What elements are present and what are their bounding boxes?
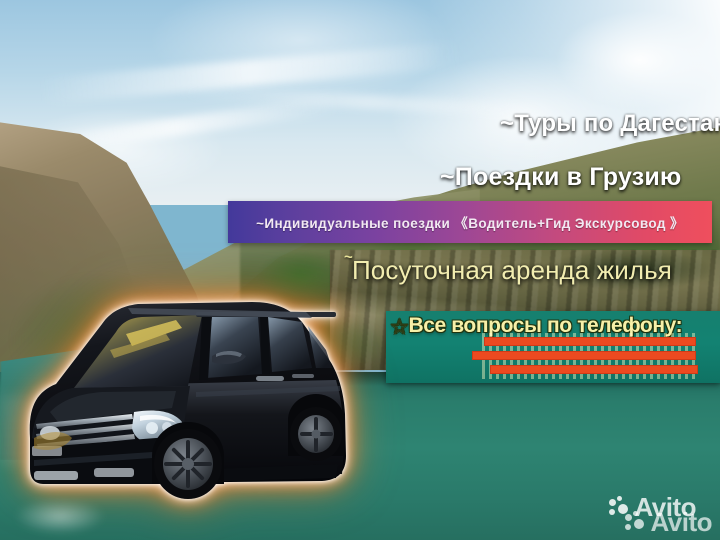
star-icon: ☆: [390, 317, 408, 338]
fog-lamp: [34, 471, 78, 480]
door-handle: [292, 374, 314, 378]
redaction-bar: [472, 351, 696, 360]
headline-tours-dagestan: ~Туры по Дагестану: [500, 110, 720, 138]
door-handle: [256, 376, 284, 381]
individual-tours-banner: ~Индивидуальные поездки 《Водитель+Гид Эк…: [228, 201, 712, 243]
individual-tours-banner-label: ~Индивидуальные поездки 《Водитель+Гид Эк…: [228, 212, 712, 232]
avito-wordmark-duplicate: Avito: [650, 509, 712, 535]
headlight-projector: [146, 422, 158, 434]
front-side-window: [206, 316, 262, 378]
rear-hub-cap: [312, 430, 321, 439]
minivan-cutout: [6, 288, 366, 520]
redaction-bar: [490, 365, 698, 374]
ad-image: ~Туры по Дагестану ~Поездки в Грузию ~Ин…: [0, 0, 720, 540]
avito-watermark: Avito Avito: [609, 494, 712, 535]
fog-lamp: [94, 468, 134, 477]
minivan-illustration: [6, 288, 366, 520]
avito-logo-row-duplicate: Avito: [625, 509, 712, 535]
rear-side-window: [268, 317, 312, 372]
contact-phone-panel: ☆Все вопросы по телефону:: [386, 311, 720, 383]
avito-dots-icon: [625, 511, 647, 533]
front-hub-cap: [182, 458, 194, 470]
headline-daily-rent: Посуточная аренда жилья: [352, 255, 672, 286]
redaction-bar: [484, 337, 696, 346]
headline-trips-georgia: ~Поездки в Грузию: [440, 163, 681, 192]
